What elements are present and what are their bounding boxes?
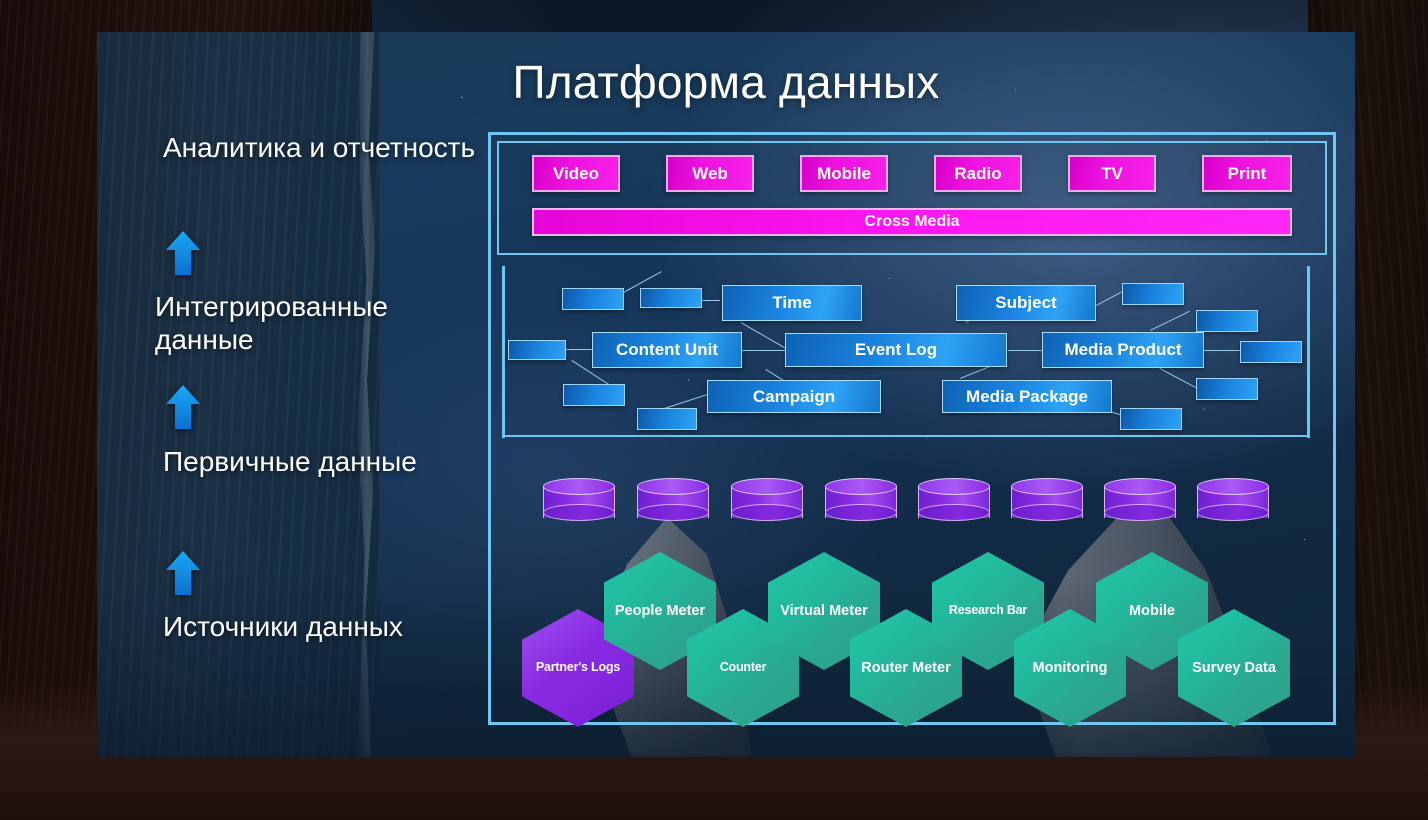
source-hex-label: Router Meter	[854, 659, 957, 677]
er-entity-time[interactable]: Time	[722, 285, 862, 321]
database-cylinder-icon[interactable]	[731, 478, 803, 522]
rail-level-analytics: Аналитика и отчетность	[163, 131, 483, 164]
database-cylinder-icon[interactable]	[543, 478, 615, 522]
database-cylinder-icon[interactable]	[1197, 478, 1269, 522]
er-connector	[1008, 350, 1046, 351]
er-entity-subject[interactable]: Subject	[956, 285, 1096, 321]
arrow-up-icon	[165, 549, 201, 597]
rail-level-sources: Источники данных	[163, 610, 483, 643]
media-chip-video[interactable]: Video	[532, 155, 620, 192]
er-entity-content-unit[interactable]: Content Unit	[592, 332, 742, 368]
media-chip-radio[interactable]: Radio	[934, 155, 1022, 192]
page-title: Платформа данных	[97, 55, 1355, 109]
rail-level-primary: Первичные данные	[163, 445, 483, 478]
source-hex-label: Partner's Logs	[529, 660, 627, 676]
database-cylinder-icon[interactable]	[1011, 478, 1083, 522]
cross-media-bar[interactable]: Cross Media	[532, 208, 1292, 236]
source-hex-label: Mobile	[1122, 602, 1182, 620]
media-chip-tv[interactable]: TV	[1068, 155, 1156, 192]
er-entity-media-product[interactable]: Media Product	[1042, 332, 1204, 368]
arrow-up-icon	[165, 383, 201, 431]
er-entity-campaign[interactable]: Campaign	[707, 380, 881, 413]
database-cylinder-icon[interactable]	[1104, 478, 1176, 522]
source-hex-label: Survey Data	[1185, 659, 1283, 677]
arrow-up-icon	[165, 229, 201, 277]
source-hex-label: Virtual Meter	[773, 602, 875, 620]
er-stub-box[interactable]	[508, 340, 566, 360]
database-cylinder-icon[interactable]	[825, 478, 897, 522]
er-stub-box[interactable]	[1196, 378, 1258, 400]
er-stub-box[interactable]	[640, 288, 702, 308]
rail-level-integrated: Интегрированные данные	[155, 290, 485, 356]
er-stub-box[interactable]	[1240, 341, 1302, 363]
er-stub-box[interactable]	[562, 288, 624, 310]
source-hex-label: People Meter	[608, 602, 712, 620]
er-stub-box[interactable]	[1196, 310, 1258, 332]
database-cylinder-icon[interactable]	[637, 478, 709, 522]
database-cylinder-icon[interactable]	[918, 478, 990, 522]
er-entity-media-package[interactable]: Media Package	[942, 380, 1112, 413]
entity-diagram-bottom-rule	[502, 435, 1310, 437]
source-hex-label: Research Bar	[942, 603, 1034, 619]
slide-canvas: Платформа данных Аналитика и отчетность …	[0, 0, 1428, 820]
er-entity-event-log[interactable]: Event Log	[785, 333, 1007, 367]
media-chip-row: Video Web Mobile Radio TV Print	[532, 155, 1292, 193]
er-connector	[740, 350, 790, 351]
er-stub-box[interactable]	[563, 384, 625, 406]
media-chip-print[interactable]: Print	[1202, 155, 1292, 192]
er-stub-box[interactable]	[1120, 408, 1182, 430]
er-stub-box[interactable]	[1122, 283, 1184, 305]
media-chip-mobile[interactable]: Mobile	[800, 155, 888, 192]
er-stub-box[interactable]	[637, 408, 697, 430]
media-chip-web[interactable]: Web	[666, 155, 754, 192]
source-hex-label: Counter	[713, 660, 774, 676]
er-connector	[1200, 350, 1240, 351]
source-hex-label: Monitoring	[1026, 659, 1115, 677]
